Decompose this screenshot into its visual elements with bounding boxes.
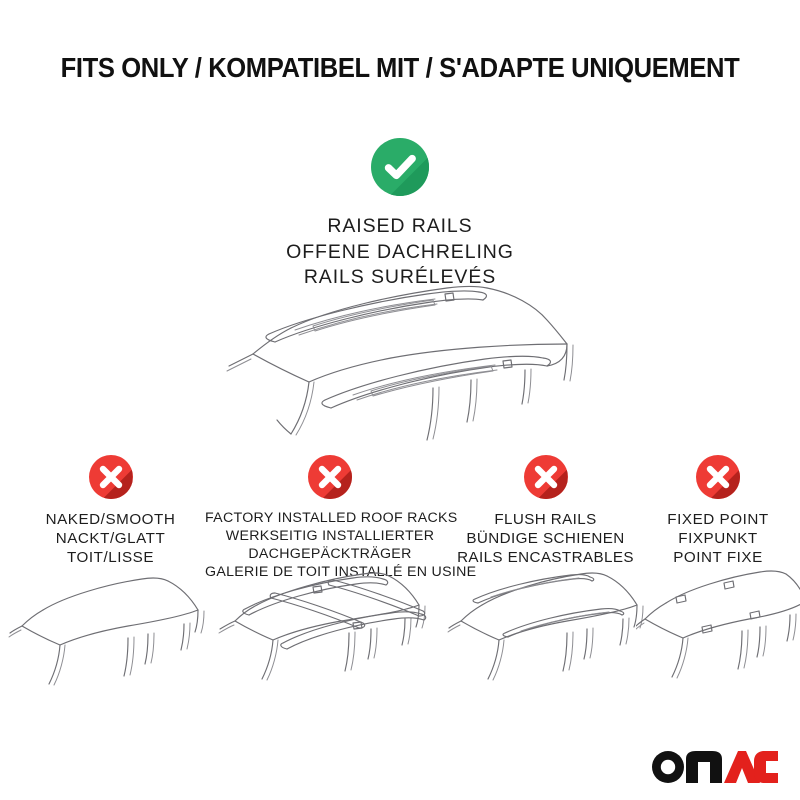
label-de: NACKT/GLATT <box>8 529 213 548</box>
label-de: BÜNDIGE SCHIENEN <box>447 529 644 548</box>
x-circle-icon <box>89 455 133 499</box>
incompatible-item-flush-rails: FLUSH RAILS BÜNDIGE SCHIENEN RAILS ENCAS… <box>447 455 644 567</box>
x-circle-icon <box>696 455 740 499</box>
omac-logo <box>650 748 778 786</box>
label-en: FACTORY INSTALLED ROOF RACKS <box>205 510 455 528</box>
label-en: NAKED/SMOOTH <box>8 510 213 529</box>
car-roof-fixed-point-illustration <box>636 553 800 688</box>
compatible-section: RAISED RAILS OFFENE DACHRELING RAILS SUR… <box>0 138 800 291</box>
incompatible-item-factory-racks: FACTORY INSTALLED ROOF RACKS WERKSEITIG … <box>205 455 455 582</box>
car-roof-factory-racks-illustration <box>205 553 455 693</box>
label-de: FIXPUNKT <box>636 529 800 548</box>
label-en: FLUSH RAILS <box>447 510 644 529</box>
x-circle-icon <box>524 455 568 499</box>
label-en: FIXED POINT <box>636 510 800 529</box>
car-roof-flush-rails-illustration <box>447 555 644 690</box>
compatible-label-en: RAISED RAILS <box>0 214 800 240</box>
compatible-labels: RAISED RAILS OFFENE DACHRELING RAILS SUR… <box>0 214 800 291</box>
x-circle-icon <box>308 455 352 499</box>
incompatible-section: NAKED/SMOOTH NACKT/GLATT TOIT/LISSE <box>0 455 800 705</box>
incompatible-labels: NAKED/SMOOTH NACKT/GLATT TOIT/LISSE <box>8 510 213 567</box>
incompatible-item-naked-smooth: NAKED/SMOOTH NACKT/GLATT TOIT/LISSE <box>8 455 213 567</box>
car-roof-naked-smooth-illustration <box>8 560 213 695</box>
check-circle-icon <box>371 138 429 196</box>
label-de-1: WERKSEITIG INSTALLIERTER <box>205 528 455 546</box>
incompatible-item-fixed-point: FIXED POINT FIXPUNKT POINT FIXE <box>636 455 800 567</box>
page-title: FITS ONLY / KOMPATIBEL MIT / S'ADAPTE UN… <box>28 52 772 84</box>
compatible-label-de: OFFENE DACHRELING <box>0 240 800 266</box>
car-roof-raised-rails-illustration <box>195 282 605 457</box>
